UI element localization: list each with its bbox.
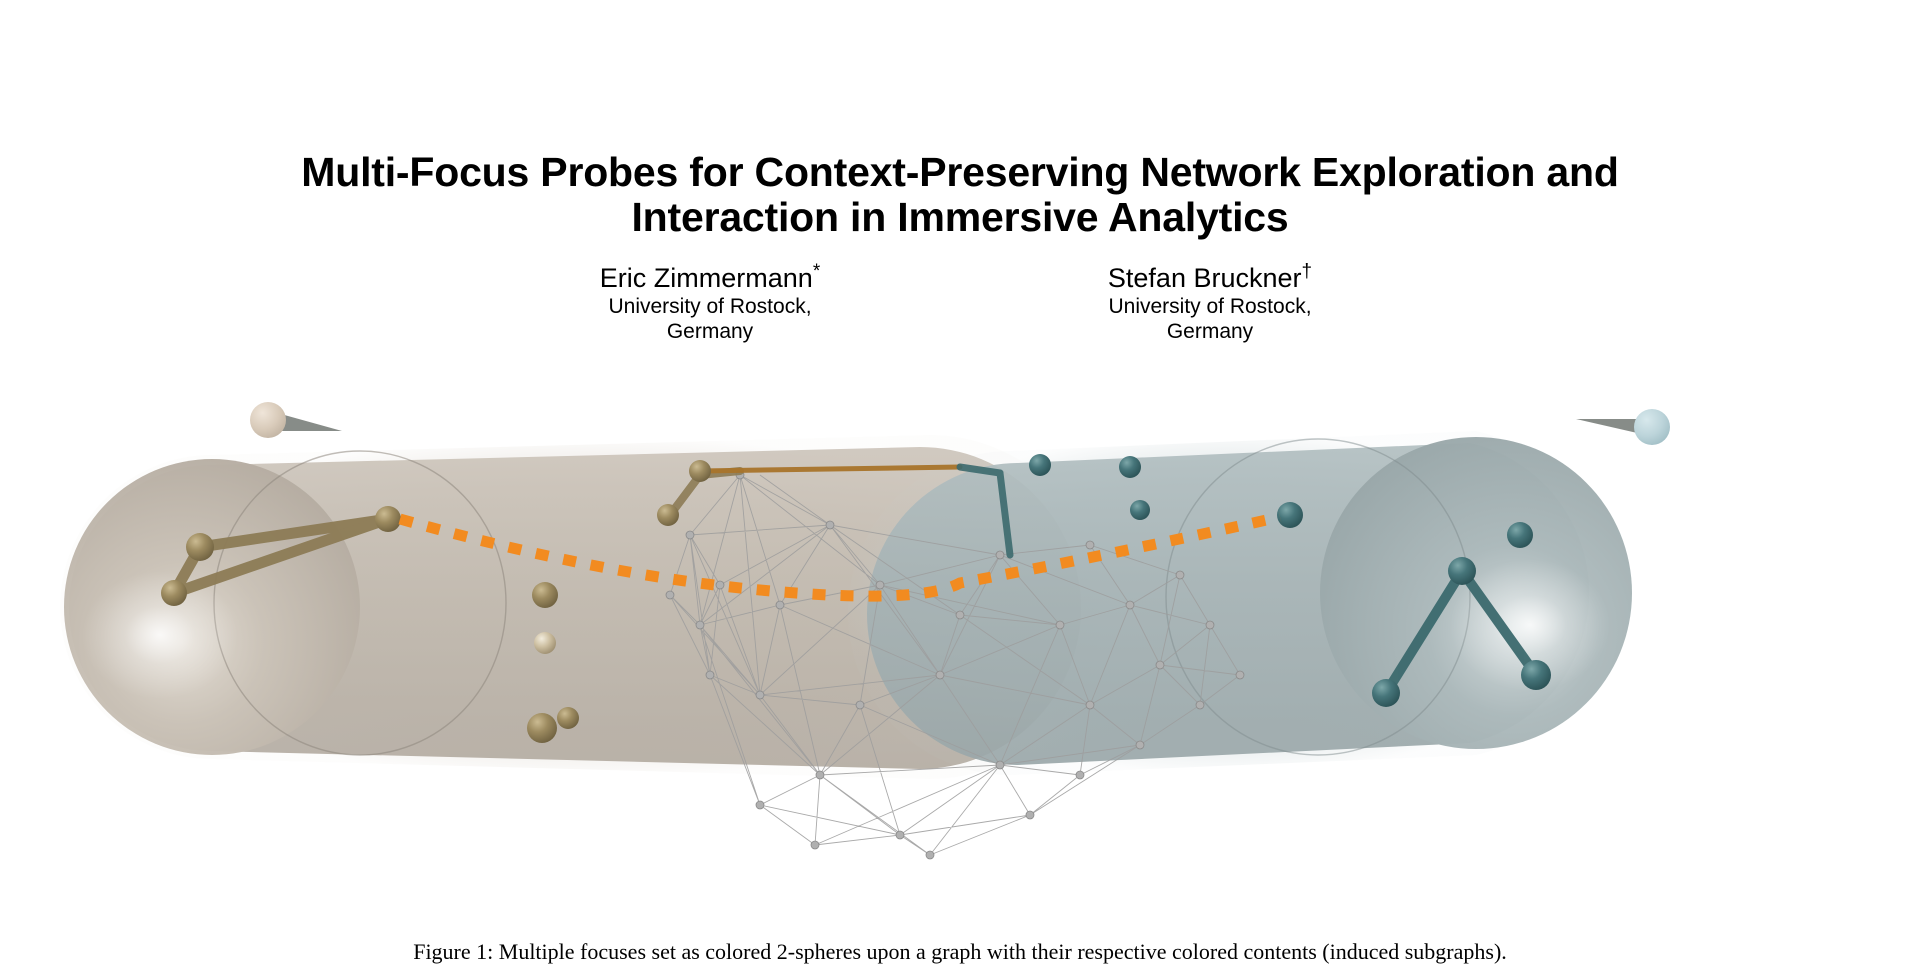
author-name-2: Stefan Bruckner†: [1060, 262, 1360, 294]
author-name-2-text: Stefan Bruckner: [1108, 263, 1302, 293]
author-list: Eric Zimmermann* University of Rostock, …: [190, 262, 1730, 344]
author-footnote-mark-1: *: [813, 261, 820, 282]
author-affiliation-1-line-2: Germany: [560, 319, 860, 344]
title-block: Multi-Focus Probes for Context-Preservin…: [190, 150, 1730, 240]
author-name-1-text: Eric Zimmermann: [600, 263, 813, 293]
author-name-1: Eric Zimmermann*: [560, 262, 860, 294]
author-affiliation-1-line-1: University of Rostock,: [560, 294, 860, 319]
author-block-1: Eric Zimmermann* University of Rostock, …: [560, 262, 860, 344]
right-cursor-pointer[interactable]: [1576, 409, 1670, 445]
author-affiliation-2-line-1: University of Rostock,: [1060, 294, 1360, 319]
left-cursor-sphere: [250, 402, 286, 438]
left-cursor-pointer[interactable]: [250, 402, 342, 438]
right-focus-probe-capsule[interactable]: [848, 431, 1632, 775]
author-affiliation-2-line-2: Germany: [1060, 319, 1360, 344]
page-title-line-1: Multi-Focus Probes for Context-Preservin…: [190, 150, 1730, 195]
page-title-line-2: Interaction in Immersive Analytics: [190, 195, 1730, 240]
author-block-2: Stefan Bruckner† University of Rostock, …: [1060, 262, 1360, 344]
author-footnote-mark-2: †: [1302, 261, 1313, 282]
teaser-figure: [0, 375, 1920, 915]
right-cursor-sphere: [1634, 409, 1670, 445]
figure-caption: Figure 1: Multiple focuses set as colore…: [190, 938, 1730, 966]
paper-page: Multi-Focus Probes for Context-Preservin…: [0, 0, 1920, 970]
